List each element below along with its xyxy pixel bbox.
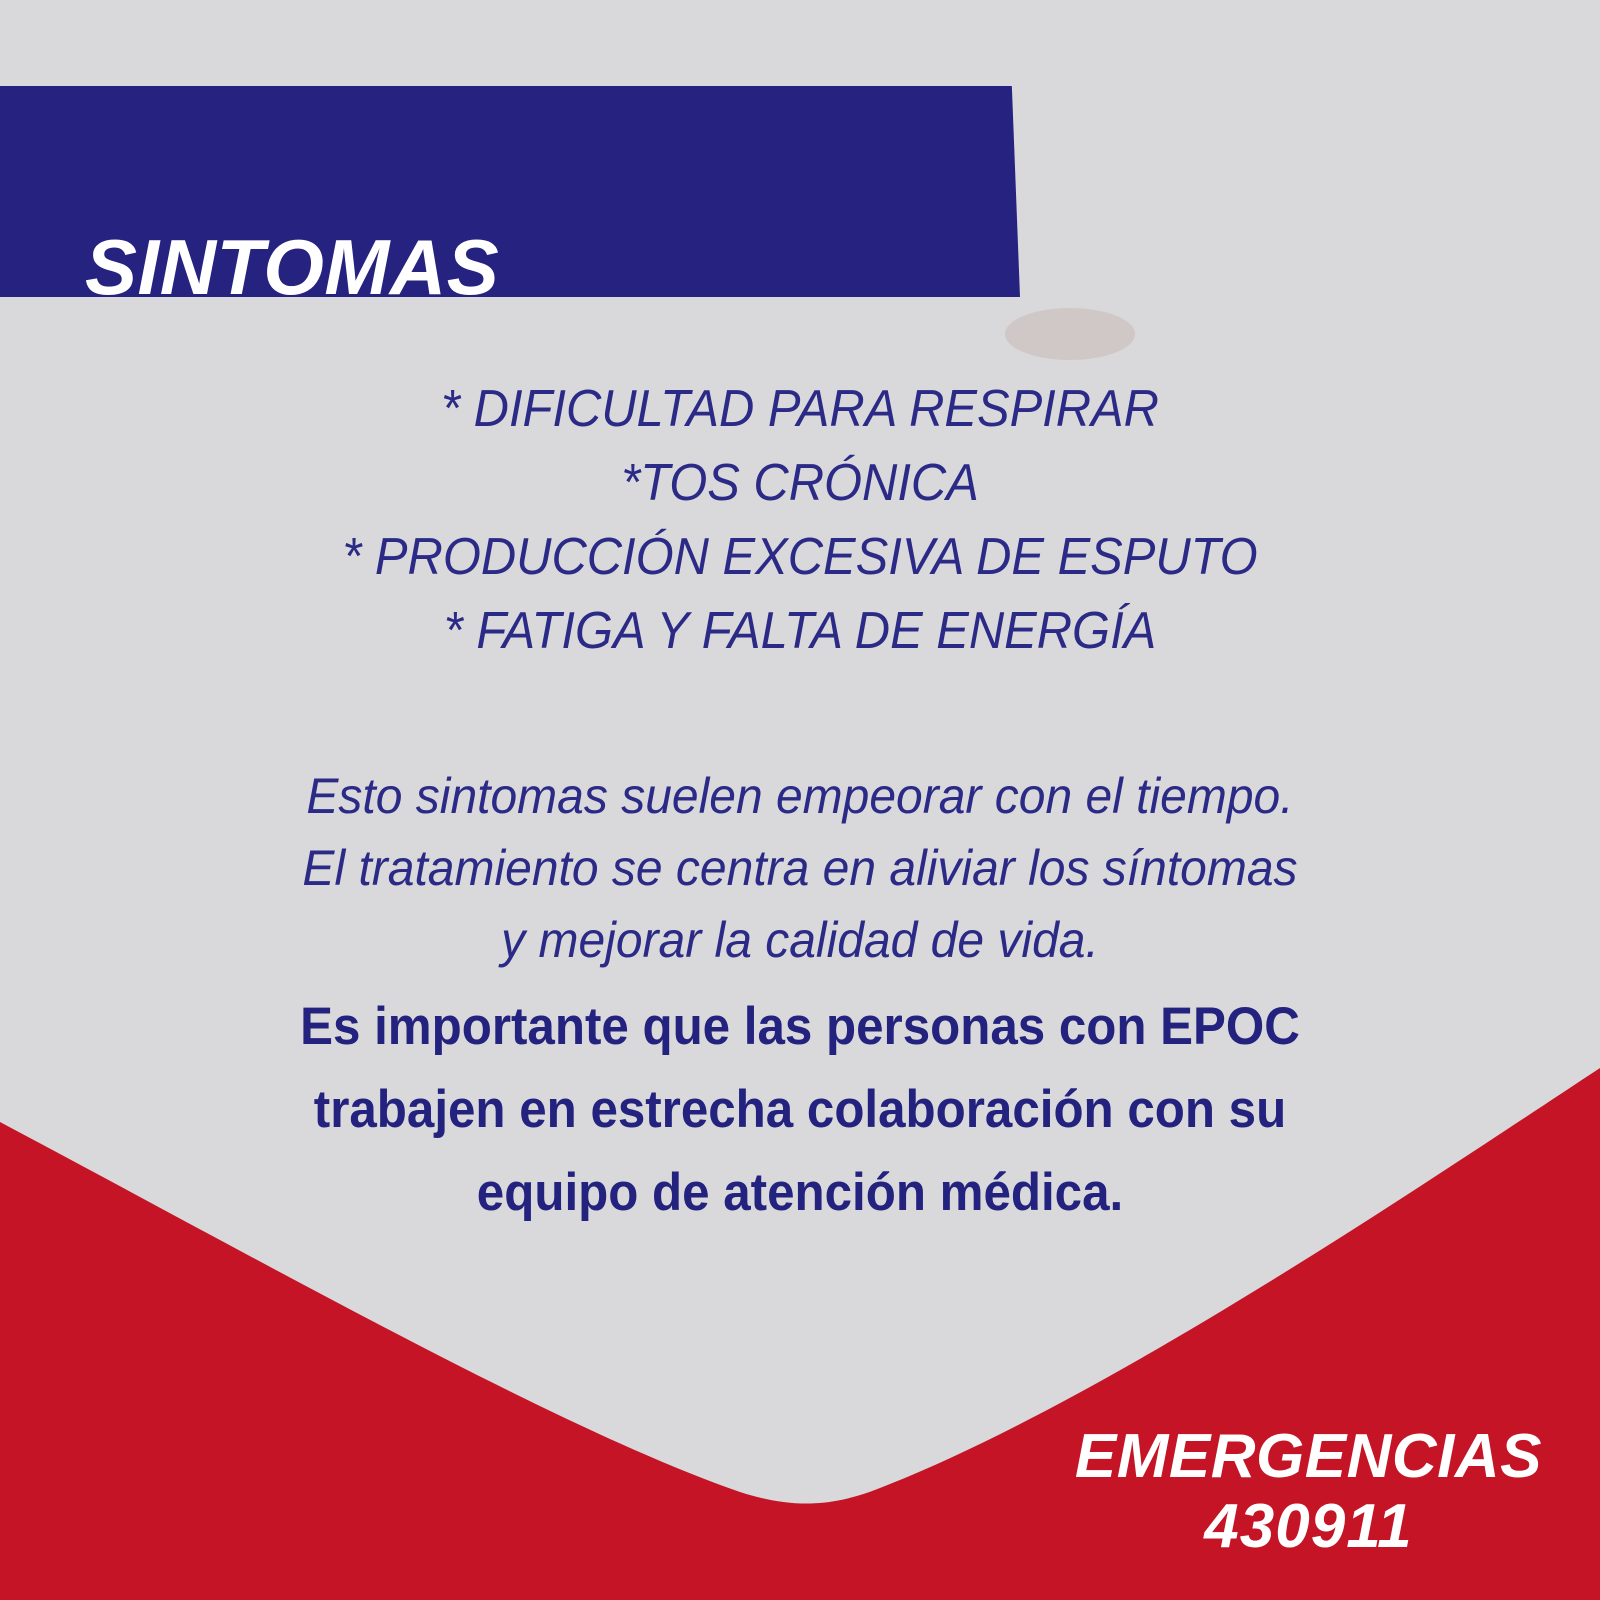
body-line: y mejorar la calidad de vida. — [32, 904, 1568, 976]
symptom-item: *TOS CRÓNICA — [48, 446, 1552, 520]
banner-shadow-ellipse — [1005, 308, 1135, 360]
emergency-footer: EMERGENCIAS 430911 — [1075, 1422, 1542, 1562]
poster-canvas: SINTOMAS * DIFICULTAD PARA RESPIRAR *TOS… — [0, 0, 1600, 1600]
body-paragraph: Esto sintomas suelen empeorar con el tie… — [0, 760, 1600, 976]
title-banner: SINTOMAS — [0, 86, 1120, 301]
body-line: Esto sintomas suelen empeorar con el tie… — [32, 760, 1568, 832]
body-line: El tratamiento se centra en aliviar los … — [32, 832, 1568, 904]
emergency-label: EMERGENCIAS — [1075, 1422, 1542, 1492]
emergency-number: 430911 — [1075, 1492, 1542, 1562]
emphasis-line: Es importante que las personas con EPOC — [56, 985, 1544, 1068]
symptom-item: * FATIGA Y FALTA DE ENERGÍA — [48, 594, 1552, 668]
symptom-item: * DIFICULTAD PARA RESPIRAR — [48, 372, 1552, 446]
emphasis-line: equipo de atención médica. — [56, 1151, 1544, 1234]
emphasis-line: trabajen en estrecha colaboración con su — [56, 1068, 1544, 1151]
symptom-item: * PRODUCCIÓN EXCESIVA DE ESPUTO — [48, 520, 1552, 594]
emphasis-paragraph: Es importante que las personas con EPOC … — [0, 985, 1600, 1234]
page-title: SINTOMAS — [85, 228, 499, 306]
symptom-list: * DIFICULTAD PARA RESPIRAR *TOS CRÓNICA … — [0, 372, 1600, 668]
